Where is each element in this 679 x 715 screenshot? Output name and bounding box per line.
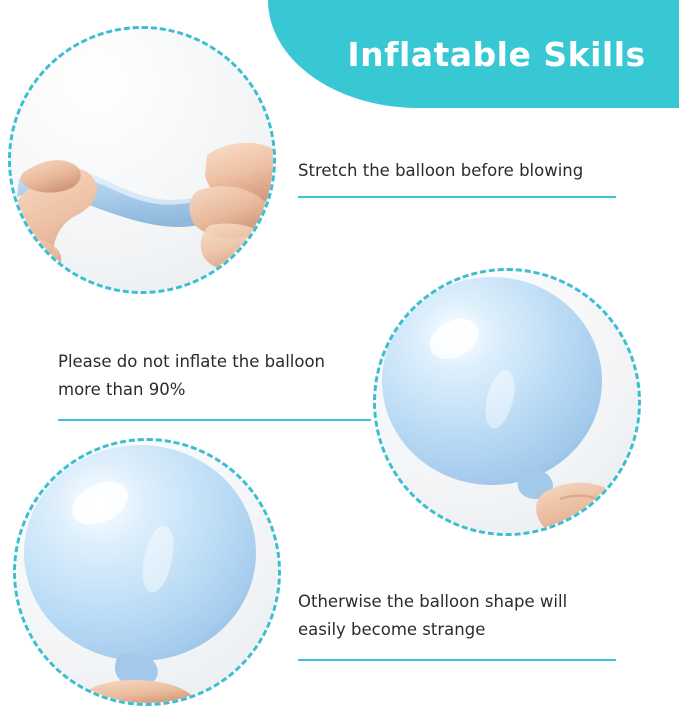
fingers-holding-balloon — [536, 483, 626, 533]
caption-inflate-line-2: more than 90% — [58, 376, 368, 404]
inflated-balloon-photo — [373, 268, 641, 536]
infographic-page: Inflatable Skills — [0, 0, 679, 715]
caption-otherwise-underline — [298, 659, 616, 661]
caption-inflate-underline — [58, 419, 371, 421]
inflated-balloon-illustration — [376, 271, 638, 533]
overinflated-balloon-illustration — [16, 441, 278, 703]
overinflated-balloon-photo — [13, 438, 281, 706]
caption-otherwise-line-2: easily become strange — [298, 616, 628, 644]
balloon-body — [24, 445, 256, 661]
overinflated-balloon-image — [16, 441, 278, 703]
stretching-balloon-illustration — [11, 29, 273, 291]
page-title: Inflatable Skills — [268, 0, 679, 108]
caption-otherwise: Otherwise the balloon shape will easily … — [298, 588, 628, 644]
header-banner: Inflatable Skills — [268, 0, 679, 108]
caption-stretch-line-1: Stretch the balloon before blowing — [298, 157, 628, 185]
caption-otherwise-line-1: Otherwise the balloon shape will — [298, 588, 628, 616]
stretching-balloon-photo — [8, 26, 276, 294]
caption-inflate-line-1: Please do not inflate the balloon — [58, 348, 368, 376]
inflated-balloon-image — [376, 271, 638, 533]
caption-inflate: Please do not inflate the balloon more t… — [58, 348, 368, 404]
caption-stretch-underline — [298, 196, 616, 198]
stretching-balloon-image — [11, 29, 273, 291]
caption-stretch: Stretch the balloon before blowing — [298, 157, 628, 185]
balloon-body — [382, 277, 602, 485]
fingers-holding-balloon — [76, 680, 198, 703]
